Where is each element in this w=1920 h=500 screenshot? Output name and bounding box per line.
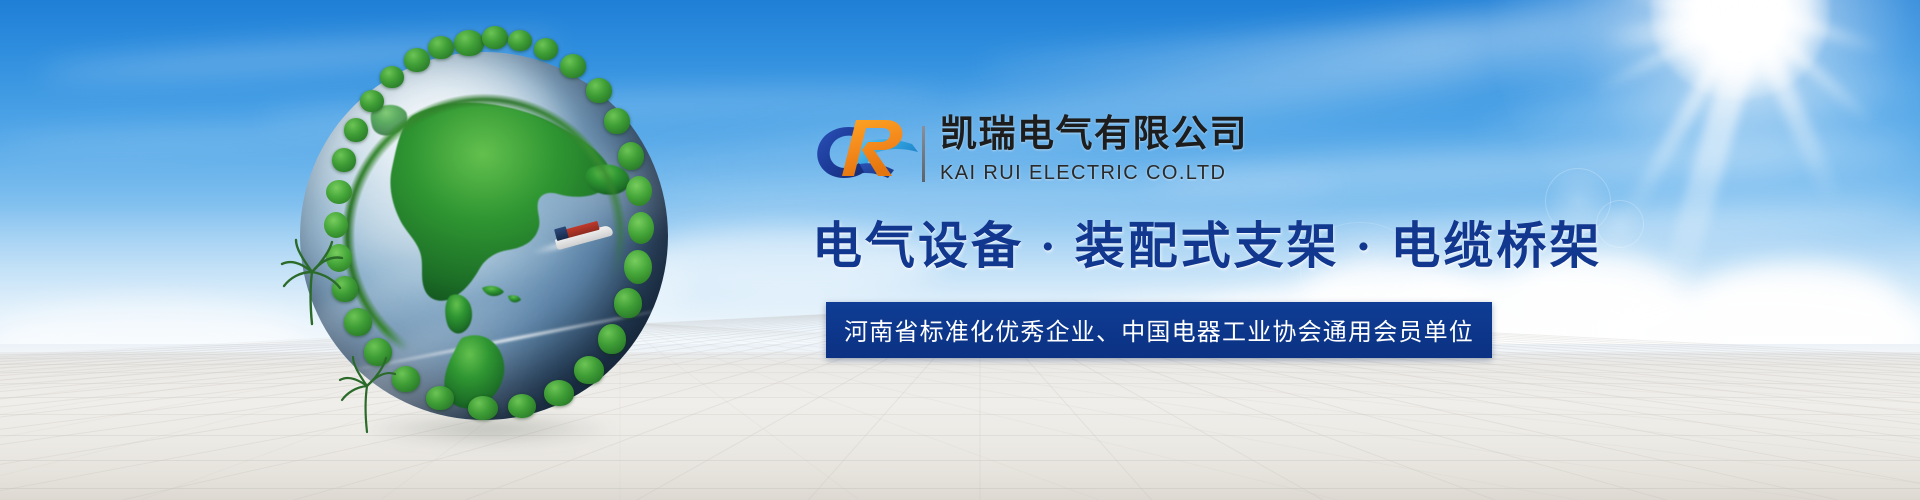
company-logo-lockup: 凯瑞电气有限公司 KAI RUI ELECTRIC CO.LTD bbox=[812, 106, 1512, 190]
company-name-cn: 凯瑞电气有限公司 bbox=[940, 114, 1248, 155]
company-name-en: KAI RUI ELECTRIC CO.LTD bbox=[940, 162, 1248, 185]
award-badge-bar: 河南省标准化优秀企业、中国电器工业协会通用会员单位 bbox=[826, 302, 1492, 358]
logo-divider bbox=[922, 126, 925, 182]
company-name-block: 凯瑞电气有限公司 KAI RUI ELECTRIC CO.LTD bbox=[940, 114, 1248, 185]
green-earth-globe bbox=[268, 24, 698, 454]
banner-content: 凯瑞电气有限公司 KAI RUI ELECTRIC CO.LTD 电气设备 · … bbox=[812, 106, 1512, 358]
tagline: 电气设备 · 装配式支架 · 电缆桥架 bbox=[812, 206, 1512, 278]
palm-tree-icon bbox=[336, 354, 400, 436]
palm-tree-icon bbox=[278, 238, 348, 328]
promotional-banner: 凯瑞电气有限公司 KAI RUI ELECTRIC CO.LTD 电气设备 · … bbox=[0, 0, 1920, 500]
cr-monogram-logo bbox=[812, 112, 920, 180]
